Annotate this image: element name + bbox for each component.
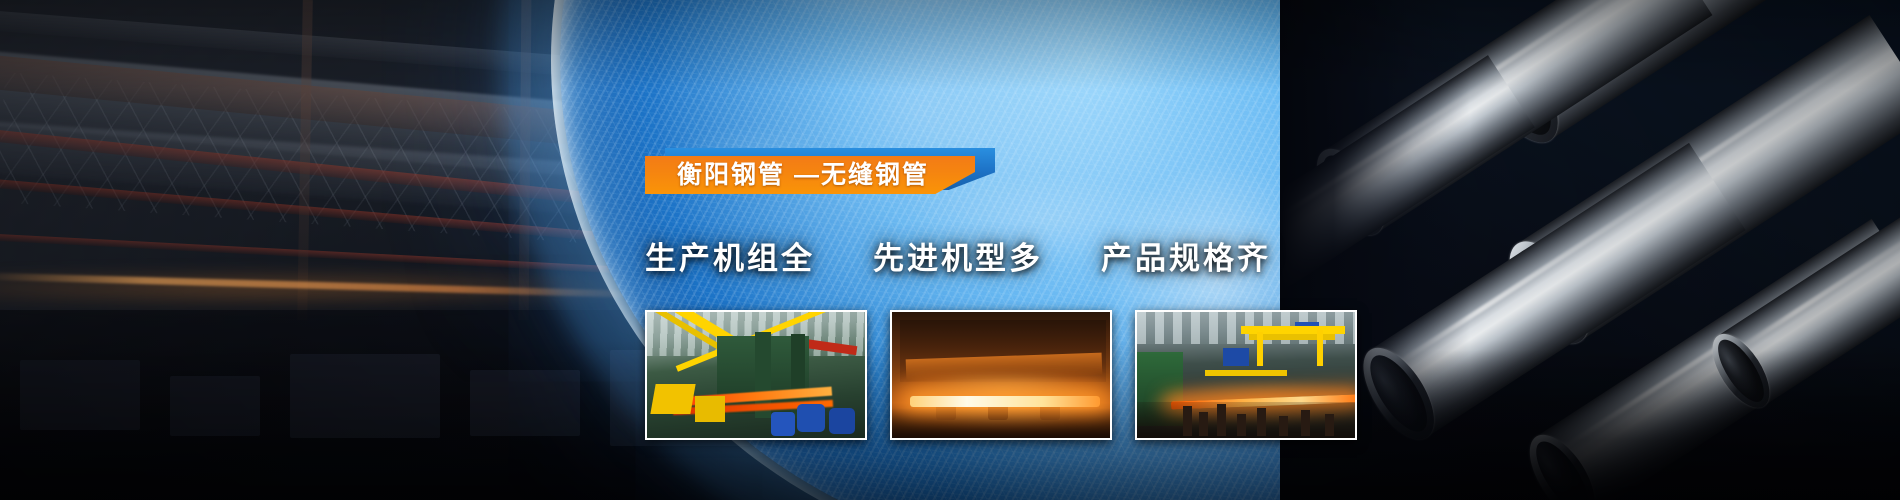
slogan-item-3: 产品规格齐 (1101, 243, 1271, 274)
thumbnail-row (645, 310, 1357, 440)
thumbnail-rolling-mill[interactable] (645, 310, 867, 440)
headline-tag: 衡阳钢管 —无缝钢管 (645, 148, 1005, 198)
thumbnail-rolling-mill-image (647, 312, 865, 438)
banner-content: 衡阳钢管 —无缝钢管 生产机组全 先进机型多 产品规格齐 (0, 0, 1900, 500)
thumbnail-hot-rolling-line-image (1137, 312, 1355, 438)
slogan-item-1: 生产机组全 (645, 243, 815, 274)
headline-tag-label: 衡阳钢管 —无缝钢管 (677, 163, 943, 188)
thumbnail-hot-billet-image (892, 312, 1110, 438)
thumbnail-hot-billet[interactable] (890, 310, 1112, 440)
slogan-row: 生产机组全 先进机型多 产品规格齐 (645, 243, 1271, 274)
slogan-item-2: 先进机型多 (873, 243, 1043, 274)
thumbnail-hot-rolling-line[interactable] (1135, 310, 1357, 440)
headline-tag-orange-plate: 衡阳钢管 —无缝钢管 (645, 156, 975, 194)
hero-banner: 衡阳钢管 —无缝钢管 生产机组全 先进机型多 产品规格齐 (0, 0, 1900, 500)
